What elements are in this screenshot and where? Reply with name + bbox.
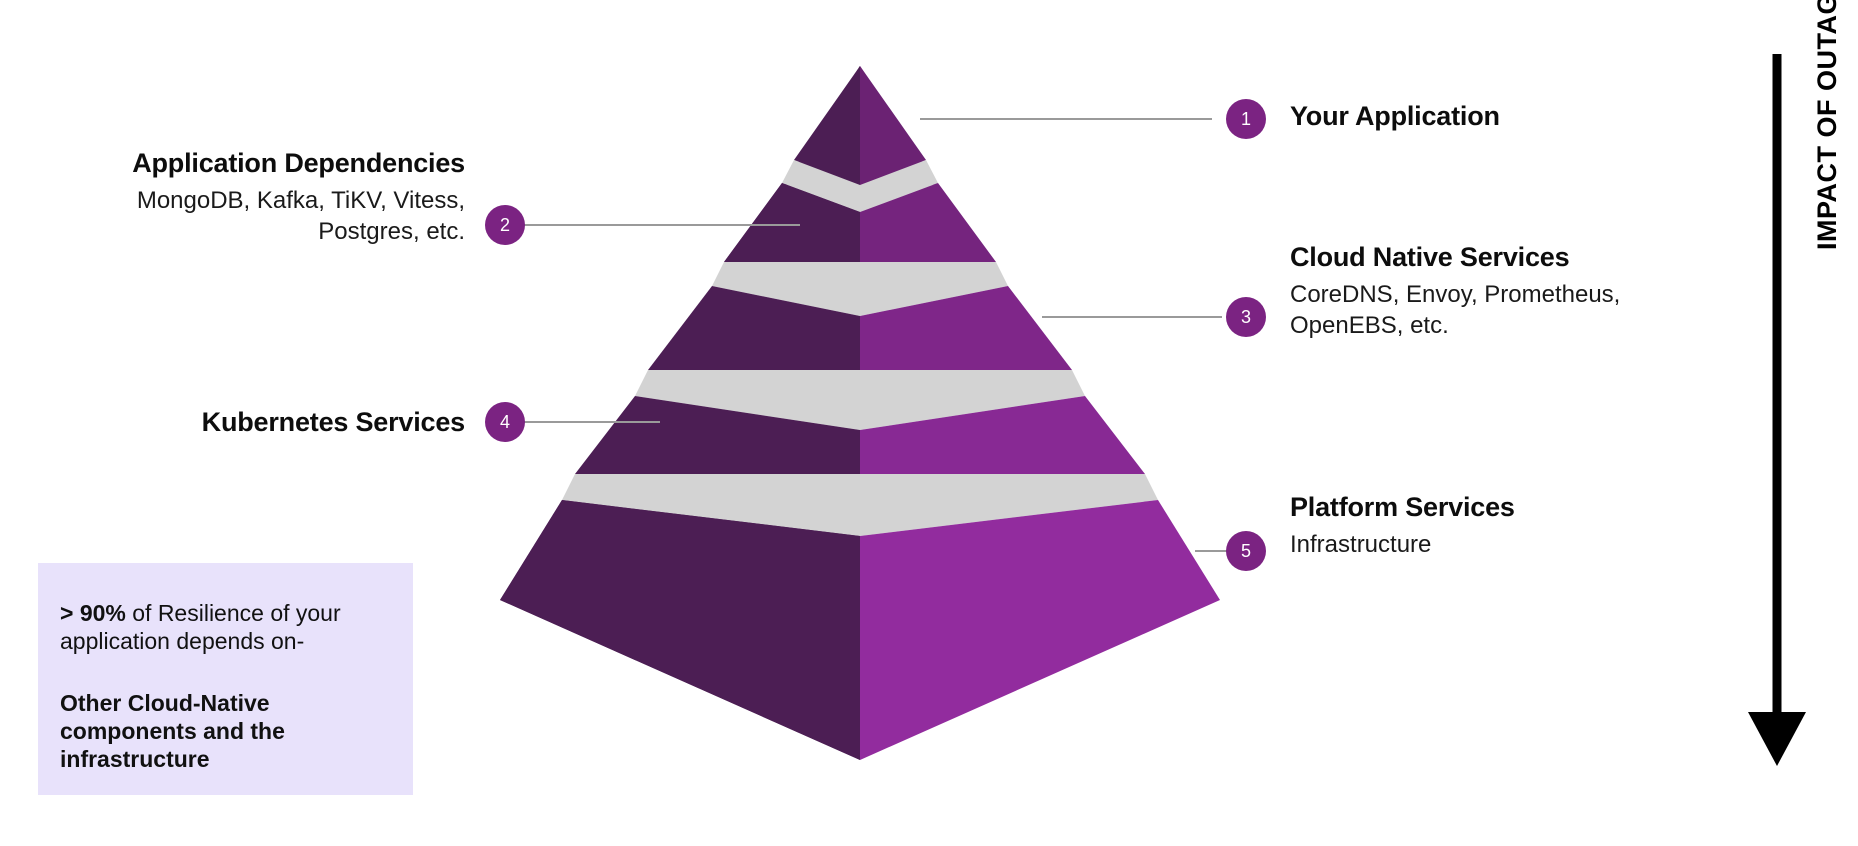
layer-3-subtitle: CoreDNS, Envoy, Prometheus, OpenEBS, etc… — [1290, 279, 1620, 341]
tier-1-right-panel — [860, 66, 926, 185]
layer-badge-3[interactable]: 3 — [1226, 297, 1266, 337]
layer-badge-5[interactable]: 5 — [1226, 531, 1266, 571]
tier-1-left-face-b — [786, 66, 860, 186]
layer-5-subtitle: Infrastructure — [1290, 529, 1515, 560]
callout-stat: > 90% — [60, 600, 126, 626]
tier-2-right-panel — [860, 183, 996, 262]
pyramid-tier-1 — [784, 66, 938, 186]
tier-4-left-panel — [575, 396, 860, 474]
pyramid-tier-4 — [575, 396, 1145, 474]
tier-1-left-face — [786, 66, 860, 182]
tier-1-left-full — [784, 66, 860, 185]
tier-gap-2 — [712, 262, 1008, 316]
layer-2-subtitle: MongoDB, Kafka, TiKV, Vitess, Postgres, … — [20, 185, 465, 247]
pyramid-tier-5 — [500, 500, 1220, 760]
layer-label-4: Kubernetes Services — [20, 407, 465, 438]
layer-5-subtitle-line-1: Infrastructure — [1290, 529, 1515, 560]
tier-5-right-panel — [860, 500, 1220, 760]
pyramid-tier-2 — [724, 183, 996, 262]
tier-4-right-panel — [860, 396, 1145, 474]
layer-2-subtitle-line-2: Postgres, etc. — [20, 216, 465, 247]
layer-badge-2[interactable]: 2 — [485, 205, 525, 245]
pyramid-tier-3 — [648, 286, 1072, 370]
tier-2-left-panel — [724, 183, 860, 262]
layer-label-1: Your Application — [1290, 101, 1500, 132]
layer-4-title: Kubernetes Services — [20, 407, 465, 438]
layer-label-3: Cloud Native Services CoreDNS, Envoy, Pr… — [1290, 242, 1620, 341]
layer-2-subtitle-line-1: MongoDB, Kafka, TiKV, Vitess, — [20, 185, 465, 216]
tier-3-right-panel — [860, 286, 1072, 370]
pyramid-tier-1-3d — [794, 66, 926, 185]
tier-gap-1 — [782, 160, 938, 212]
tier-1-left-top — [794, 66, 860, 160]
layer-1-title: Your Application — [1290, 101, 1500, 132]
layer-2-title: Application Dependencies — [20, 148, 465, 179]
arrow-down-icon — [1748, 712, 1806, 766]
tier-5-left-top — [500, 500, 860, 760]
tier-2-left-body — [724, 183, 860, 262]
layer-3-subtitle-line-2: OpenEBS, etc. — [1290, 310, 1620, 341]
callout-paragraph: > 90% of Resilience of your application … — [60, 599, 377, 655]
tier-3-left-panel — [648, 286, 860, 370]
tier-1-right-face — [860, 66, 938, 185]
resilience-callout: > 90% of Resilience of your application … — [38, 563, 413, 795]
tier-1-left-panel — [794, 66, 860, 185]
layer-label-2: Application Dependencies MongoDB, Kafka,… — [20, 148, 465, 247]
callout-emphasis: Other Cloud-Native components and the in… — [60, 689, 377, 773]
diagram-canvas: 1 2 3 4 5 Your Application Cloud Native … — [0, 0, 1858, 846]
tier-gap-3 — [635, 370, 1085, 430]
layer-3-title: Cloud Native Services — [1290, 242, 1620, 273]
layer-3-subtitle-line-1: CoreDNS, Envoy, Prometheus, — [1290, 279, 1620, 310]
layer-badge-1[interactable]: 1 — [1226, 99, 1266, 139]
layer-label-5: Platform Services Infrastructure — [1290, 492, 1515, 560]
layer-badge-4[interactable]: 4 — [485, 402, 525, 442]
impact-of-outage-label: IMPACT OF OUTAGE — [1812, 0, 1843, 250]
tier-gap-4 — [562, 474, 1158, 536]
layer-5-title: Platform Services — [1290, 492, 1515, 523]
tier-5-left-panel — [500, 500, 860, 760]
